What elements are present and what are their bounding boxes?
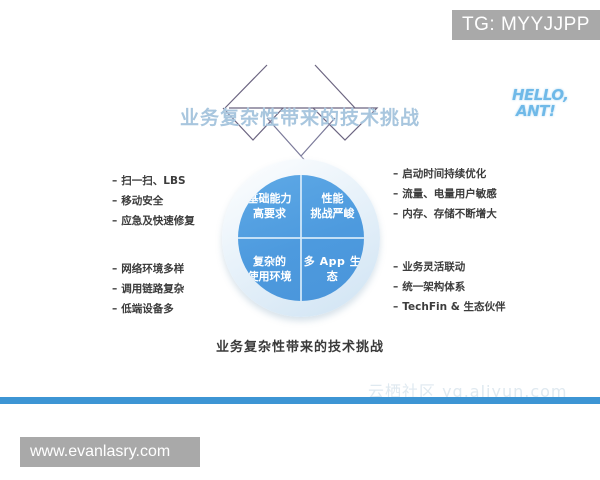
quadrant-bottom-right-line1: 多 App 生态 [301,255,364,285]
diagram-caption: 业务复杂性带来的技术挑战 [0,336,600,355]
list-item: – 统一架构体系 [393,278,506,298]
blue-divider-band [0,397,600,404]
list-item: – 业务灵活联动 [393,258,506,278]
quadrant-top-right-line1: 性能 [311,192,355,207]
quadrant-top-right-line2: 挑战严峻 [311,207,355,222]
site-watermark-label: www.evanlasry.com [20,443,170,461]
list-item-label: 调用链路复杂 [121,280,184,300]
bullet-list-top-right: – 启动时间持续优化 – 流量、电量用户敏感 – 内存、存储不断增大 [393,165,497,225]
list-item-label: 移动安全 [121,192,163,212]
hello-ant-logo: HELLO, ANT! [512,88,592,130]
list-item: – 启动时间持续优化 [393,165,497,185]
bullet-list-top-left: – 扫一扫、LBS – 移动安全 – 应急及快速修复 [112,172,195,232]
dash-icon: – [112,172,117,192]
list-item-label: 网络环境多样 [121,260,184,280]
site-watermark-overlay: www.evanlasry.com [20,437,200,467]
tg-tag-label: TG: MYYJJPP [452,14,590,36]
list-item-label: 扫一扫、LBS [121,172,185,192]
quadrant-bottom-right: 多 App 生态 [301,238,364,301]
quadrant-bottom-left: 复杂的 使用环境 [238,238,301,301]
list-item-label: 流量、电量用户敏感 [402,185,497,205]
list-item-label: 低端设备多 [121,300,174,320]
dash-icon: – [112,300,117,320]
dash-icon: – [112,192,117,212]
slide-canvas: 业务复杂性带来的技术挑战 基础能力 高要求 性能 挑战严峻 复杂的 使用环境 [0,0,600,480]
quadrant-top-right: 性能 挑战严峻 [301,175,364,238]
list-item: – 流量、电量用户敏感 [393,185,497,205]
tg-tag-overlay: TG: MYYJJPP [452,10,600,40]
quadrant-top-left-line2: 高要求 [248,207,292,222]
dash-icon: – [393,278,398,298]
dash-icon: – [112,280,117,300]
quadrant-circle-diagram: 基础能力 高要求 性能 挑战严峻 复杂的 使用环境 多 App 生态 [222,155,380,327]
dash-icon: – [393,205,398,225]
bullet-list-bottom-left: – 网络环境多样 – 调用链路复杂 – 低端设备多 [112,260,184,320]
list-item-label: 启动时间持续优化 [402,165,486,185]
quadrant-divider-horizontal [238,237,364,239]
list-item-label: TechFin & 生态伙伴 [402,298,505,318]
list-item-label: 业务灵活联动 [402,258,465,278]
dash-icon: – [393,165,398,185]
list-item: – 移动安全 [112,192,195,212]
list-item-label: 应急及快速修复 [121,212,195,232]
inner-circle: 基础能力 高要求 性能 挑战严峻 复杂的 使用环境 多 App 生态 [238,175,364,301]
dash-icon: – [393,298,398,318]
list-item: – 应急及快速修复 [112,212,195,232]
dash-icon: – [393,185,398,205]
list-item: – 网络环境多样 [112,260,184,280]
quadrant-top-left-line1: 基础能力 [248,192,292,207]
quadrant-bottom-left-line1: 复杂的 [248,255,292,270]
dash-icon: – [112,212,117,232]
quadrant-top-left: 基础能力 高要求 [238,175,301,238]
quadrant-bottom-left-line2: 使用环境 [248,270,292,285]
list-item: – TechFin & 生态伙伴 [393,298,506,318]
list-item: – 扫一扫、LBS [112,172,195,192]
list-item: – 低端设备多 [112,300,184,320]
page-title: 业务复杂性带来的技术挑战 [0,103,600,130]
dash-icon: – [112,260,117,280]
logo-line-2: ANT! [512,104,592,120]
list-item: – 内存、存储不断增大 [393,205,497,225]
list-item-label: 统一架构体系 [402,278,465,298]
bullet-list-bottom-right: – 业务灵活联动 – 统一架构体系 – TechFin & 生态伙伴 [393,258,506,318]
dash-icon: – [393,258,398,278]
list-item-label: 内存、存储不断增大 [402,205,497,225]
list-item: – 调用链路复杂 [112,280,184,300]
